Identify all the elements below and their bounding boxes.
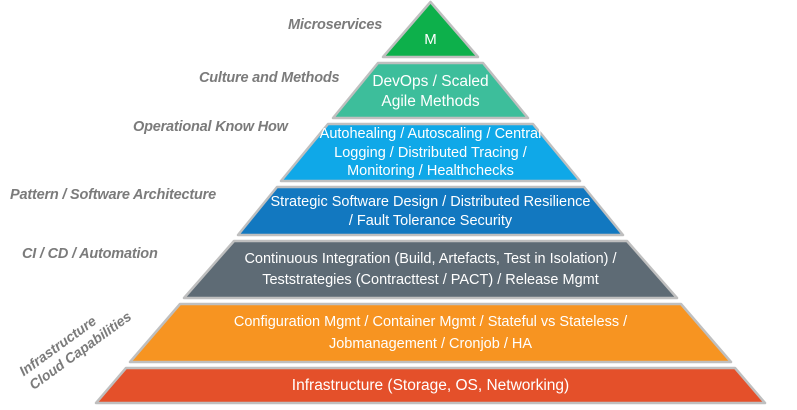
tier-ci-cd-automation-shape [184,241,677,298]
tier-infrastructure-base-line-0: Infrastructure (Storage, OS, Networking) [292,377,569,394]
tier-infrastructure-cloud-capabilities-shape [130,304,731,362]
side-label-microservices: Microservices [288,17,382,33]
tier-microservices[interactable]: M [383,2,478,57]
tier-infrastructure-base[interactable]: Infrastructure (Storage, OS, Networking) [96,368,765,403]
tier-operational-know-how-line-0: Autohealing / Autoscaling / Central [320,126,542,142]
tier-culture-and-methods-line-1: Agile Methods [381,93,479,110]
tier-ci-cd-automation[interactable]: Continuous Integration (Build, Artefacts… [184,241,677,298]
tier-infrastructure-cloud-capabilities-line-0: Configuration Mgmt / Container Mgmt / St… [234,314,628,330]
side-label-operational-know-how: Operational Know How [133,119,288,135]
side-label-ci-cd-automation: CI / CD / Automation [22,246,158,262]
tier-operational-know-how-line-2: Monitoring / Healthchecks [347,163,514,179]
pyramid-graphic: M DevOps / Scaled Agile Methods Autoheal… [0,0,797,410]
tier-microservices-line-0: M [424,31,437,48]
tier-pattern-software-architecture[interactable]: Strategic Software Design / Distributed … [238,187,623,235]
tier-pattern-software-architecture-line-0: Strategic Software Design / Distributed … [271,194,591,210]
tier-microservices-shape [383,2,478,57]
side-label-pattern-software-architecture: Pattern / Software Architecture [10,187,216,203]
tier-operational-know-how[interactable]: Autohealing / Autoscaling / Central Logg… [281,124,580,181]
tier-ci-cd-automation-line-1: Teststrategies (Contracttest / PACT) / R… [262,272,599,288]
side-label-culture-and-methods: Culture and Methods [199,70,339,86]
pyramid-diagram: M DevOps / Scaled Agile Methods Autoheal… [0,0,797,410]
tier-infrastructure-cloud-capabilities[interactable]: Configuration Mgmt / Container Mgmt / St… [130,304,731,362]
tier-operational-know-how-line-1: Logging / Distributed Tracing / [334,145,528,161]
tier-infrastructure-cloud-capabilities-line-1: Jobmanagement / Cronjob / HA [329,336,532,352]
tier-culture-and-methods[interactable]: DevOps / Scaled Agile Methods [333,63,528,118]
tier-ci-cd-automation-line-0: Continuous Integration (Build, Artefacts… [244,251,617,267]
tier-pattern-software-architecture-line-1: / Fault Tolerance Security [349,213,513,229]
tier-culture-and-methods-line-0: DevOps / Scaled [372,73,488,90]
